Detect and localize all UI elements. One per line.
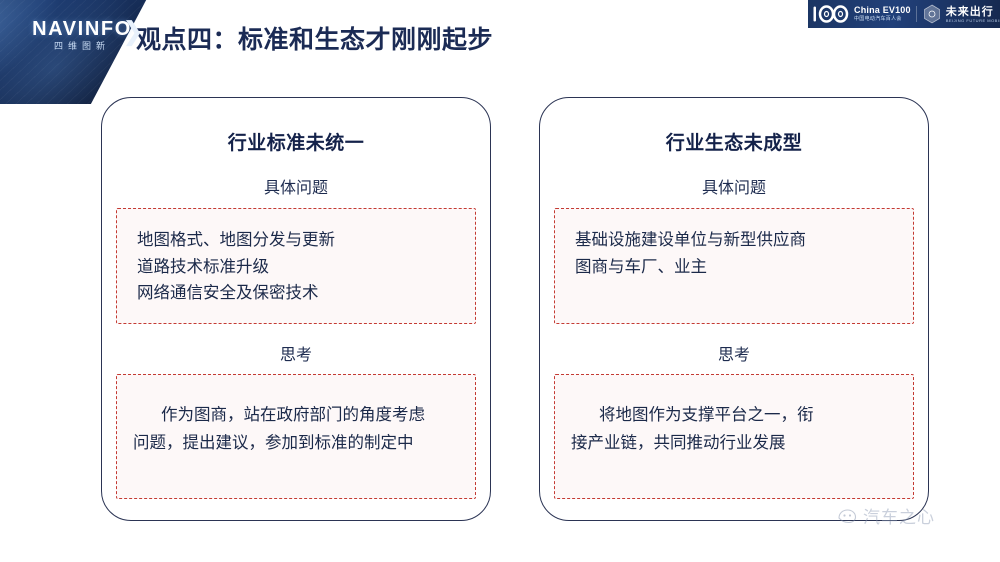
problem-box: 地图格式、地图分发与更新 道路技术标准升级 网络通信安全及保密技术 bbox=[116, 208, 476, 324]
chevron-right-icon: ❯ bbox=[122, 18, 144, 44]
think-lines: 将地图作为支撑平台之一，衔 接产业链，共同推动行业发展 bbox=[571, 401, 901, 458]
section-label-think: 思考 bbox=[102, 341, 490, 365]
future-label-cn: 未来出行 bbox=[946, 6, 1000, 17]
think-line: 作为图商，站在政府部门的角度考虑 bbox=[133, 401, 463, 429]
future-mobility-text: 未来出行 BEIJING FUTURE MOBILITY bbox=[946, 6, 1000, 23]
problem-line: 道路技术标准升级 bbox=[137, 254, 461, 281]
problem-lines: 地图格式、地图分发与更新 道路技术标准升级 网络通信安全及保密技术 bbox=[137, 227, 461, 307]
future-label-en: BEIJING FUTURE MOBILITY bbox=[946, 19, 1000, 23]
ev100-label-en: China EV100 bbox=[854, 6, 911, 15]
think-line: 接产业链，共同推动行业发展 bbox=[571, 429, 901, 457]
badge-strip: China EV100 中国电动汽车百人会 未来出行 BEIJING FUTUR… bbox=[808, 0, 1000, 28]
problem-line: 图商与车厂、业主 bbox=[575, 254, 899, 281]
section-label-problem: 具体问题 bbox=[102, 174, 490, 198]
think-box: 将地图作为支撑平台之一，衔 接产业链，共同推动行业发展 bbox=[554, 374, 914, 499]
page-title: 观点四：标准和生态才刚刚起步 bbox=[136, 20, 493, 56]
think-box: 作为图商，站在政府部门的角度考虑 问题，提出建议，参加到标准的制定中 bbox=[116, 374, 476, 499]
card-industry-standards: 行业标准未统一 具体问题 地图格式、地图分发与更新 道路技术标准升级 网络通信安… bbox=[101, 97, 491, 521]
ev100-label-cn: 中国电动汽车百人会 bbox=[854, 17, 911, 22]
problem-line: 网络通信安全及保密技术 bbox=[137, 280, 461, 307]
card-industry-ecosystem: 行业生态未成型 具体问题 基础设施建设单位与新型供应商 图商与车厂、业主 思考 … bbox=[539, 97, 929, 521]
problem-lines: 基础设施建设单位与新型供应商 图商与车厂、业主 bbox=[575, 227, 899, 280]
future-mobility-hex-icon bbox=[922, 3, 942, 25]
card-title: 行业标准未统一 bbox=[102, 128, 490, 155]
section-label-think: 思考 bbox=[540, 341, 928, 365]
ev100-logo-icon bbox=[812, 3, 852, 25]
slide-root: NAVINFO 四维图新 ❯ 观点四：标准和生态才刚刚起步 China EV10… bbox=[0, 0, 1000, 562]
think-line: 问题，提出建议，参加到标准的制定中 bbox=[133, 429, 463, 457]
think-line: 将地图作为支撑平台之一，衔 bbox=[571, 401, 901, 429]
problem-line: 地图格式、地图分发与更新 bbox=[137, 227, 461, 254]
badge-divider bbox=[916, 6, 917, 22]
think-lines: 作为图商，站在政府部门的角度考虑 问题，提出建议，参加到标准的制定中 bbox=[133, 401, 463, 458]
ev100-text: China EV100 中国电动汽车百人会 bbox=[854, 6, 911, 22]
section-label-problem: 具体问题 bbox=[540, 174, 928, 198]
problem-box: 基础设施建设单位与新型供应商 图商与车厂、业主 bbox=[554, 208, 914, 324]
problem-line: 基础设施建设单位与新型供应商 bbox=[575, 227, 899, 254]
card-title: 行业生态未成型 bbox=[540, 128, 928, 155]
